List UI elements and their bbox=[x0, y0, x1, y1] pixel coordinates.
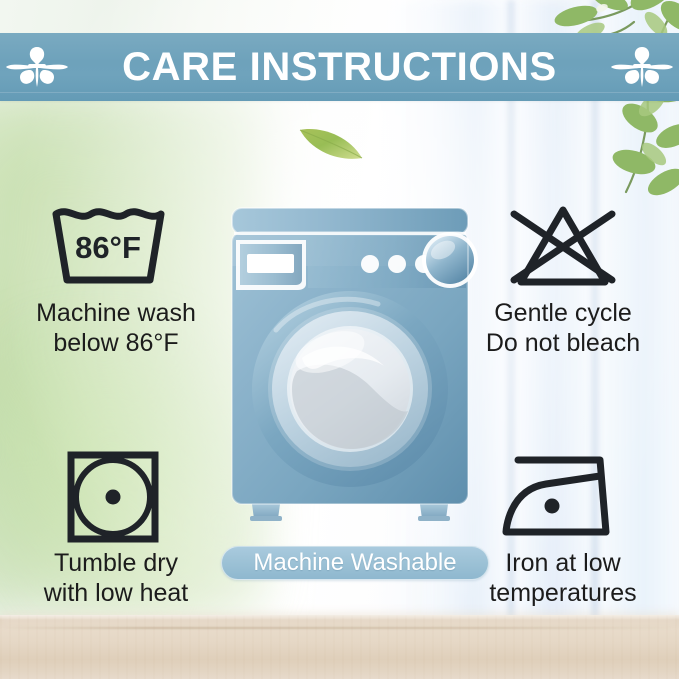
washer-top-lid bbox=[232, 208, 468, 234]
care-instructions-card: CARE INSTRUCTIONS 86°F bbox=[0, 0, 679, 679]
status-badge: Machine Washable bbox=[221, 546, 489, 580]
care-item-label: Machine wash below 86°F bbox=[16, 298, 216, 358]
washer-feet bbox=[250, 504, 450, 521]
iron-low-heat-icon bbox=[463, 446, 663, 546]
washer-door-icon bbox=[252, 291, 448, 487]
fleur-de-lis-icon bbox=[6, 43, 68, 91]
care-item-tumble-dry-low: Tumble dry with low heat bbox=[16, 446, 216, 608]
rotary-knob-icon bbox=[422, 232, 478, 288]
banner-accent-line bbox=[0, 92, 679, 93]
leaf-icon bbox=[296, 118, 368, 166]
header-banner: CARE INSTRUCTIONS bbox=[0, 33, 679, 101]
wash-temp-value: 86°F bbox=[75, 230, 141, 265]
detergent-drawer-icon bbox=[236, 240, 306, 290]
wash-tub-icon: 86°F bbox=[16, 196, 216, 296]
table-seam bbox=[0, 627, 679, 629]
tumble-dry-low-icon bbox=[16, 446, 216, 546]
care-item-gentle-cycle-no-bleach: Gentle cycle Do not bleach bbox=[463, 196, 663, 358]
wooden-table-surface bbox=[0, 615, 679, 679]
care-item-label: Iron at low temperatures bbox=[463, 548, 663, 608]
care-item-label: Gentle cycle Do not bleach bbox=[463, 298, 663, 358]
do-not-bleach-triangle-icon bbox=[463, 196, 663, 296]
care-item-label: Tumble dry with low heat bbox=[16, 548, 216, 608]
care-item-machine-wash: 86°F Machine wash below 86°F bbox=[16, 196, 216, 358]
page-title: CARE INSTRUCTIONS bbox=[68, 47, 611, 87]
fleur-de-lis-icon bbox=[611, 43, 673, 91]
status-badge-label: Machine Washable bbox=[253, 551, 456, 575]
washing-machine-illustration bbox=[222, 206, 478, 531]
care-item-iron-low: Iron at low temperatures bbox=[463, 446, 663, 608]
table-grain bbox=[0, 615, 679, 679]
